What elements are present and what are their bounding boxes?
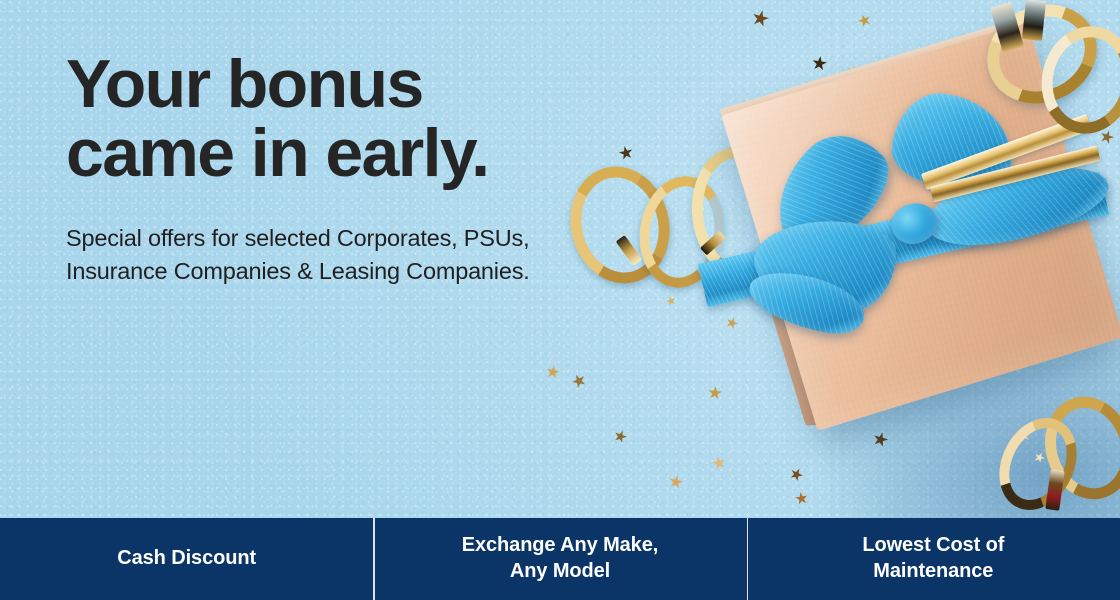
promo-banner: Your bonus came in early. Special offers…: [0, 0, 1120, 600]
gold-ribbon-segment: [1022, 0, 1046, 41]
subtitle: Special offers for selected Corporates, …: [66, 222, 530, 289]
feature-item-lowest-cost-maintenance[interactable]: Lowest Cost of Maintenance: [747, 518, 1120, 600]
feature-item-exchange-any-make[interactable]: Exchange Any Make, Any Model: [373, 518, 746, 600]
feature-bar: Cash Discount Exchange Any Make, Any Mod…: [0, 518, 1120, 600]
page-title: Your bonus came in early.: [66, 50, 488, 189]
feature-item-cash-discount[interactable]: Cash Discount: [0, 518, 373, 600]
